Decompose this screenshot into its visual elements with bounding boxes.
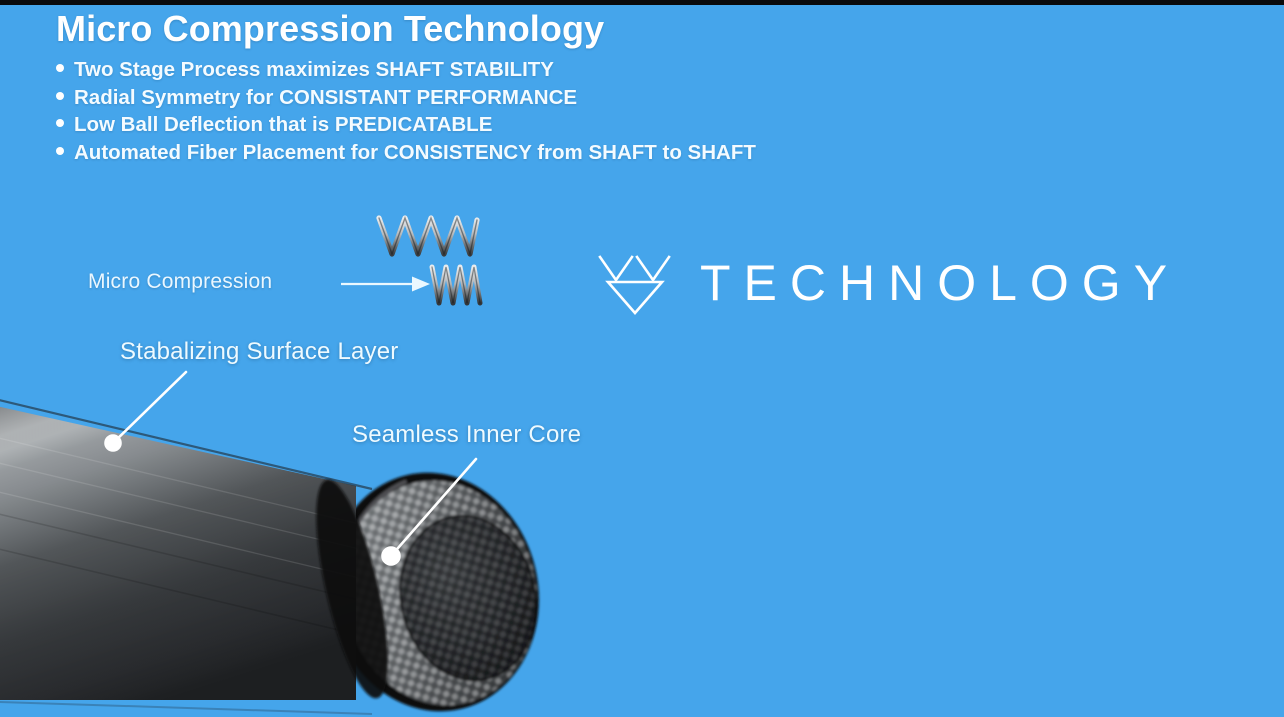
list-item: Two Stage Process maximizes SHAFT STABIL… xyxy=(56,56,976,83)
callout-seamless-inner-core: Seamless Inner Core xyxy=(352,421,581,449)
bullet-dot-icon xyxy=(56,147,64,155)
callout-stabalizing-surface-layer: Stabalizing Surface Layer xyxy=(120,338,399,366)
slide-canvas: Micro Compression Technology Two Stage P… xyxy=(0,0,1284,717)
technology-brand-lockup: TECHNOLOGY xyxy=(596,246,1180,320)
letterbox-bar-top xyxy=(0,0,1284,5)
bullet-dot-icon xyxy=(56,119,64,127)
compression-arrow-icon xyxy=(340,270,432,298)
page-title: Micro Compression Technology xyxy=(56,8,976,50)
compressed-spring xyxy=(428,262,484,308)
technology-wordmark: TECHNOLOGY xyxy=(700,258,1180,308)
list-item: Radial Symmetry for CONSISTANT PERFORMAN… xyxy=(56,84,976,111)
list-item: Automated Fiber Placement for CONSISTENC… xyxy=(56,139,976,166)
headline-block: Micro Compression Technology Two Stage P… xyxy=(56,8,976,182)
bullet-dot-icon xyxy=(56,64,64,72)
bullet-dot-icon xyxy=(56,92,64,100)
bullet-text: Low Ball Deflection that is PREDICATABLE xyxy=(74,111,492,138)
shaft-body xyxy=(0,386,372,714)
chevron-v-logo-icon xyxy=(596,249,678,317)
micro-compression-label: Micro Compression xyxy=(88,270,272,294)
feature-bullet-list: Two Stage Process maximizes SHAFT STABIL… xyxy=(56,56,976,165)
list-item: Low Ball Deflection that is PREDICATABLE xyxy=(56,111,976,138)
uncompressed-spring xyxy=(374,212,482,260)
bullet-text: Automated Fiber Placement for CONSISTENC… xyxy=(74,139,756,166)
bullet-text: Radial Symmetry for CONSISTANT PERFORMAN… xyxy=(74,84,577,111)
bullet-text: Two Stage Process maximizes SHAFT STABIL… xyxy=(74,56,554,83)
